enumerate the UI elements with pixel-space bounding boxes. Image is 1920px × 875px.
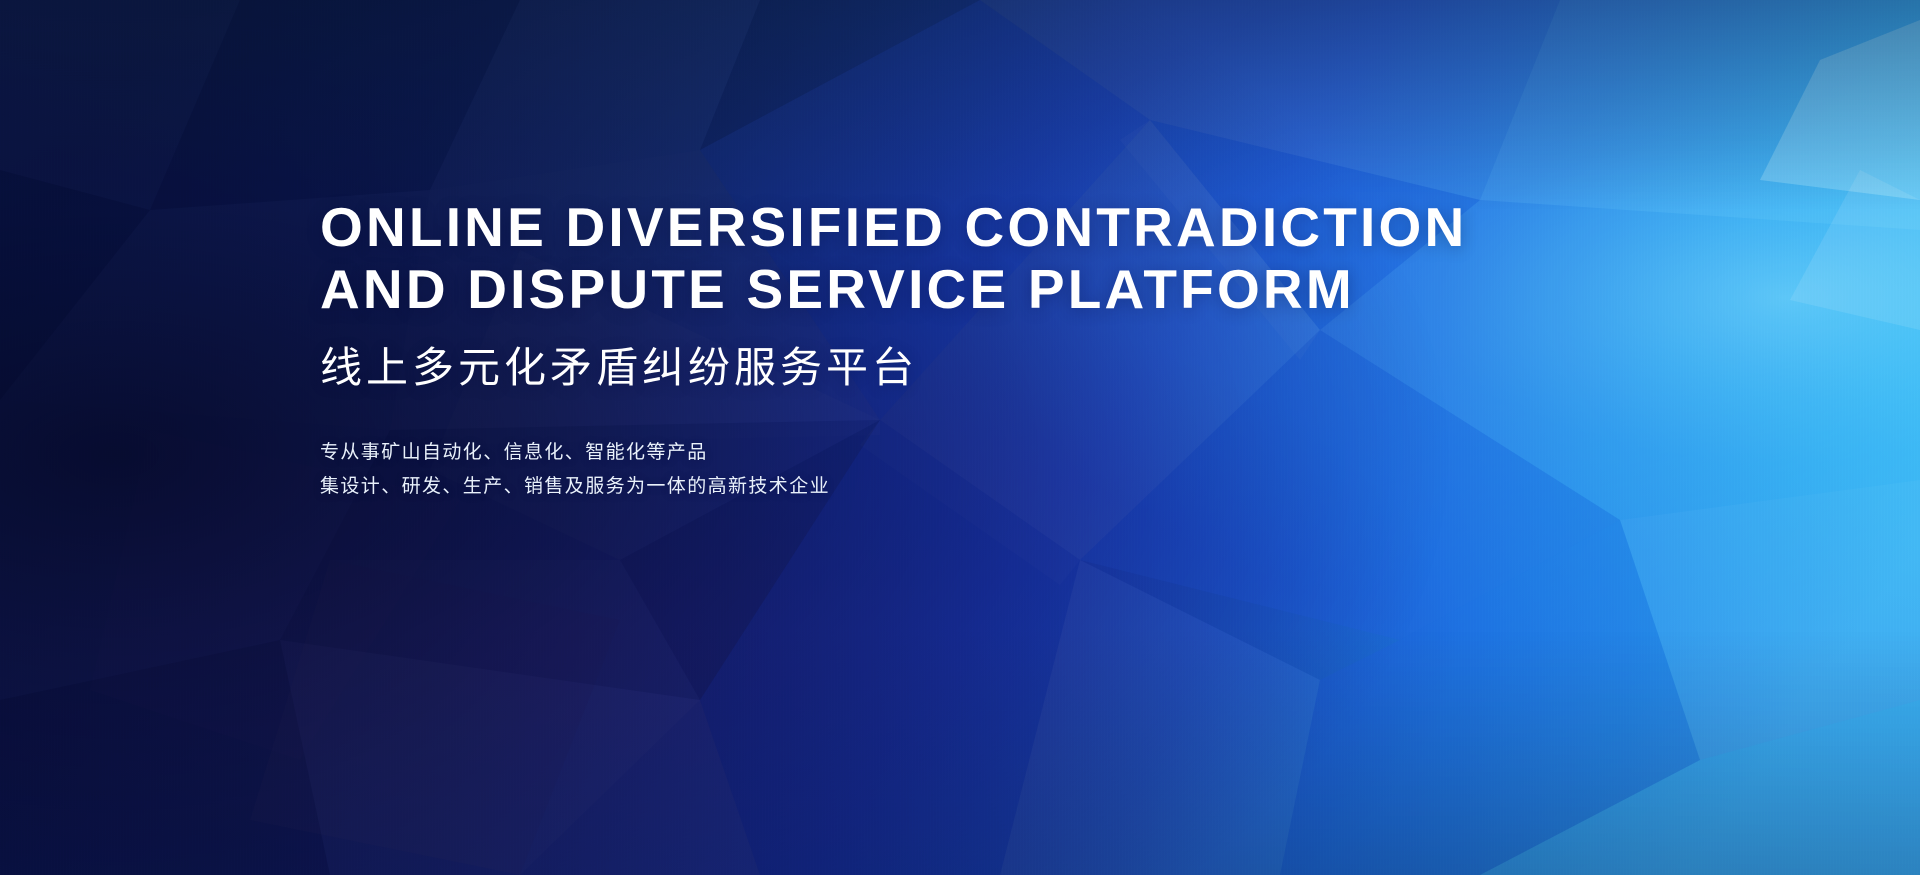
subtitle-chinese: 线上多元化矛盾纠纷服务平台 <box>320 342 1660 394</box>
body-line-1: 专从事矿山自动化、信息化、智能化等产品 <box>320 436 1660 470</box>
body-line-2: 集设计、研发、生产、销售及服务为一体的高新技术企业 <box>320 470 1660 504</box>
hero-copy-block: ONLINE DIVERSIFIED CONTRADICTION AND DIS… <box>320 196 1660 504</box>
headline-line-1: ONLINE DIVERSIFIED CONTRADICTION <box>320 196 1660 258</box>
hero-banner: ONLINE DIVERSIFIED CONTRADICTION AND DIS… <box>0 0 1920 875</box>
body-copy: 专从事矿山自动化、信息化、智能化等产品 集设计、研发、生产、销售及服务为一体的高… <box>320 436 1660 504</box>
headline-line-2: AND DISPUTE SERVICE PLATFORM <box>320 258 1660 320</box>
